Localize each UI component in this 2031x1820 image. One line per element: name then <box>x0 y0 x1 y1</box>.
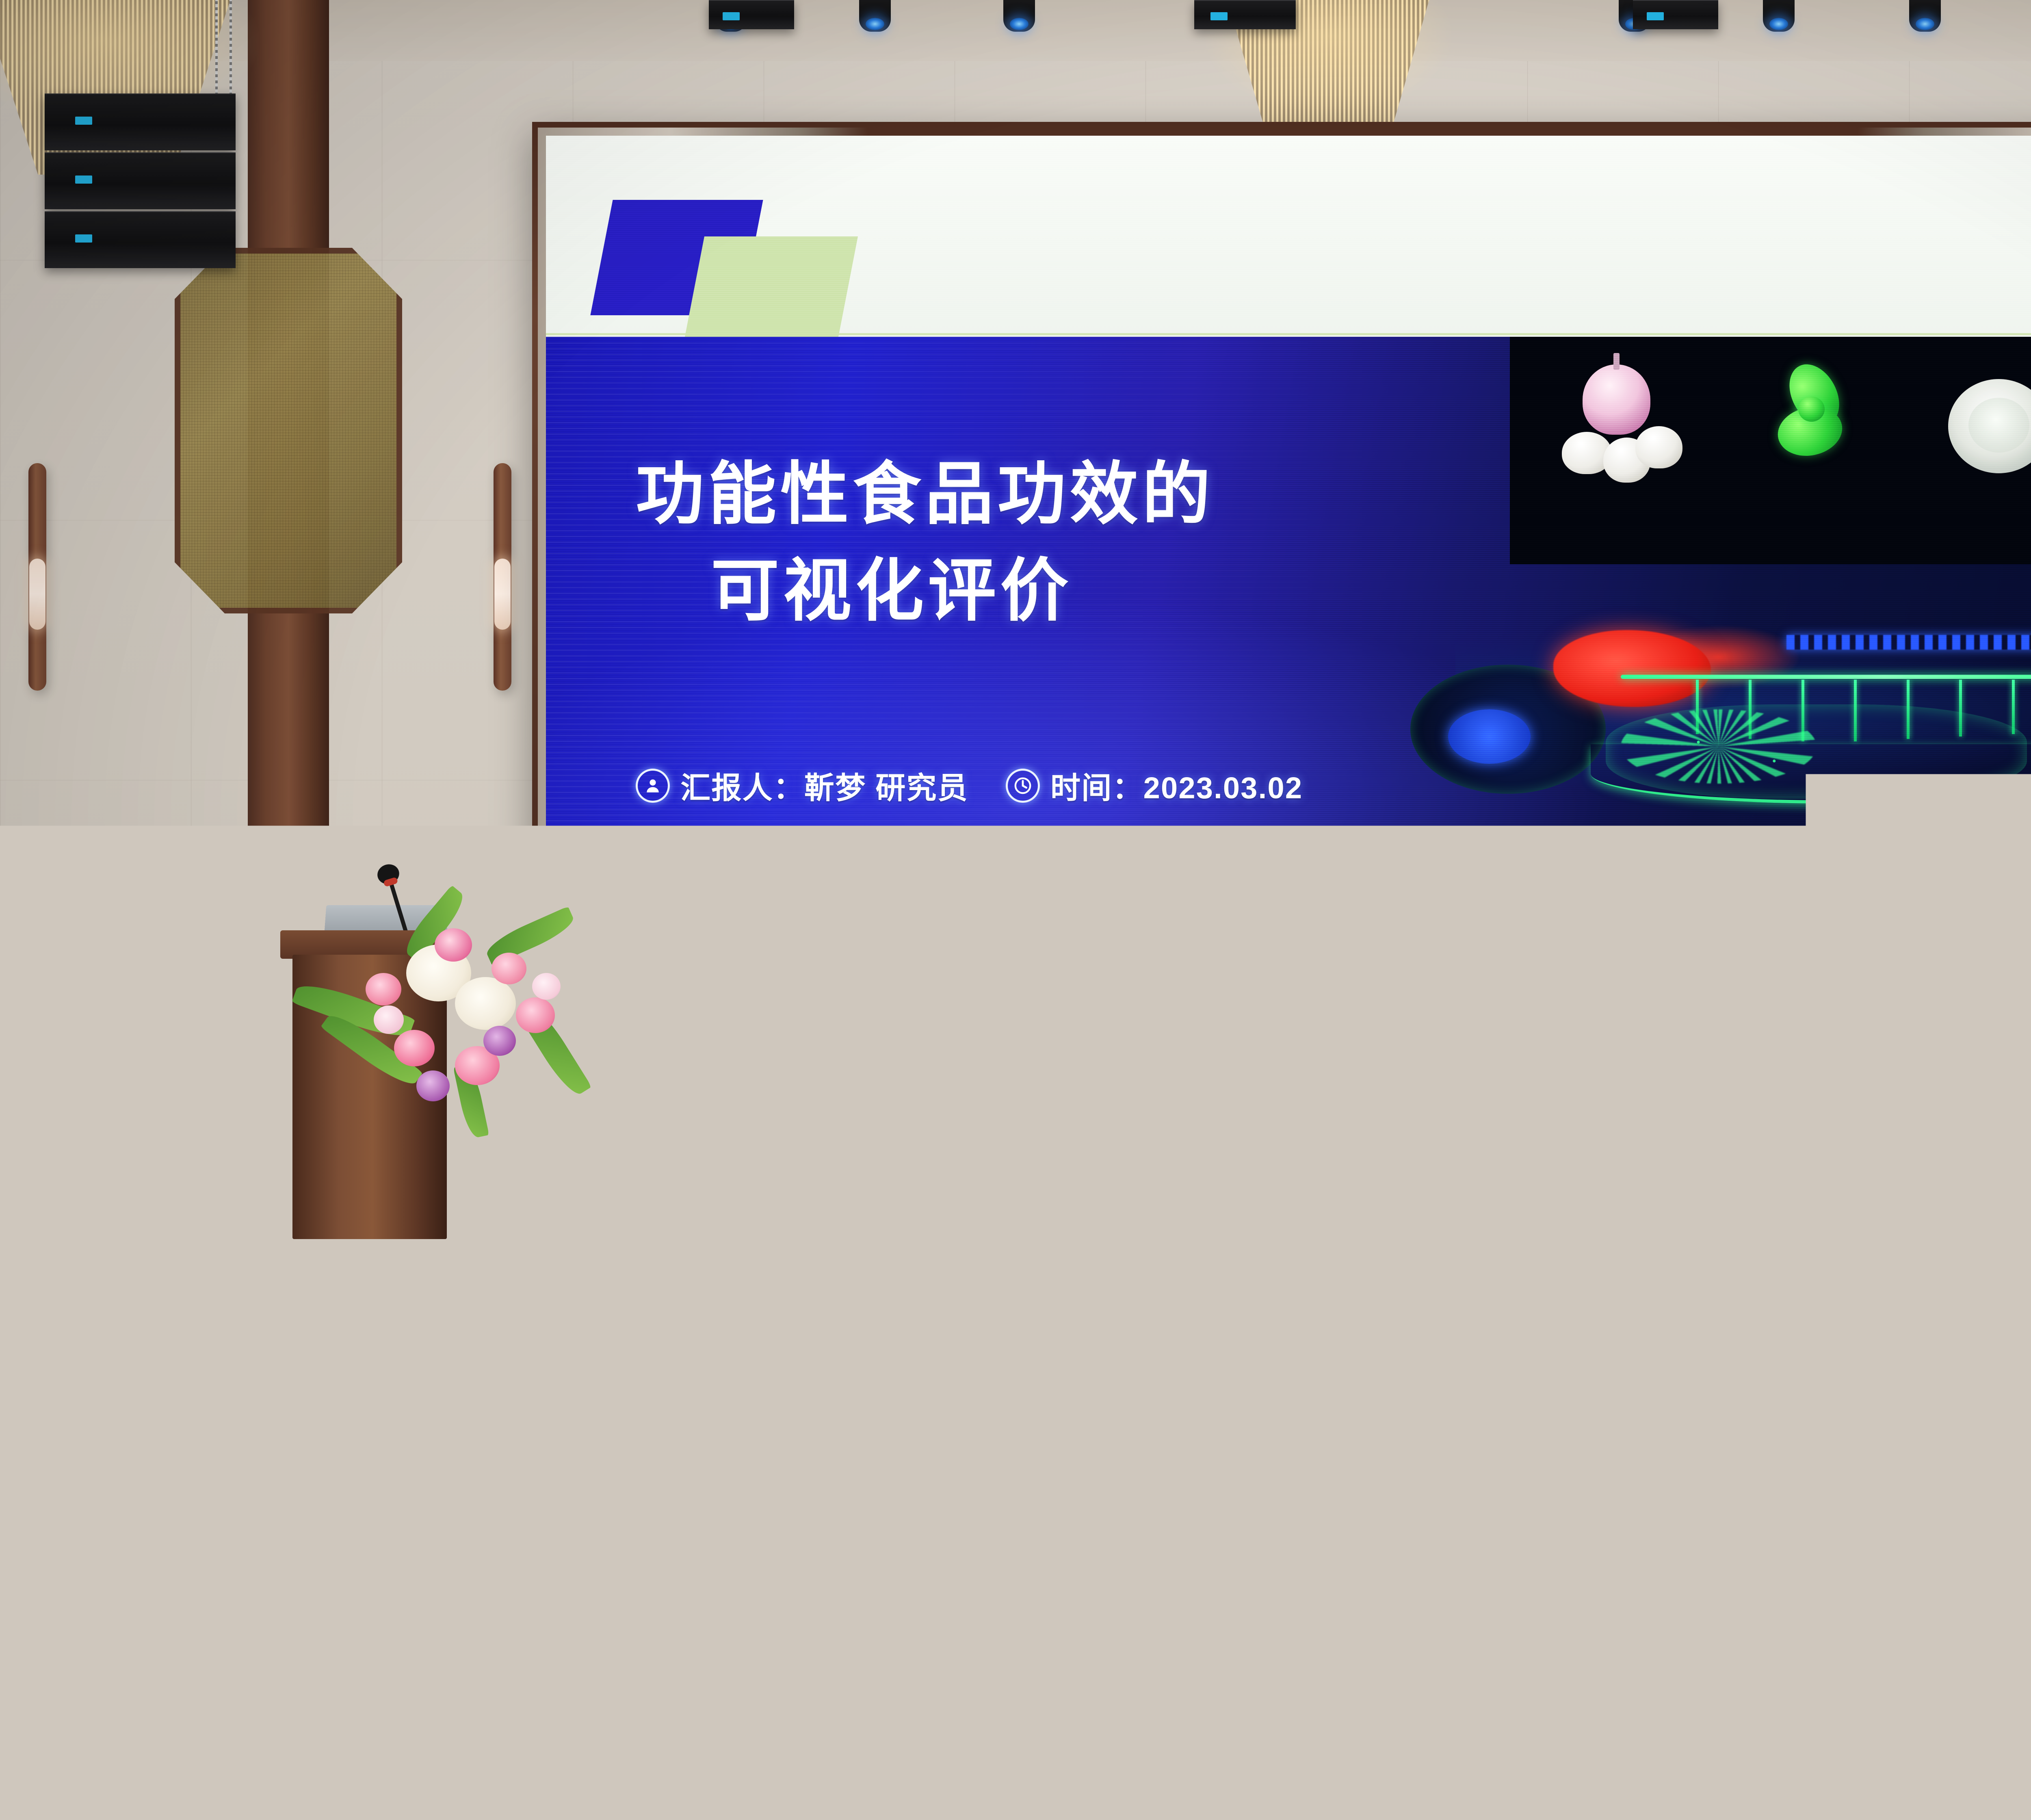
purple-orchid <box>416 1070 450 1101</box>
person-torso <box>1271 1735 1556 1820</box>
bottle-label <box>626 1749 657 1807</box>
person-torso <box>252 1722 536 1820</box>
bottle-label <box>621 1538 646 1582</box>
audience-member-foreground <box>1271 1597 1556 1820</box>
ceiling-spotlight-icon <box>1763 0 1795 32</box>
garlic-clove <box>1635 426 1682 468</box>
audience-member-foreground <box>252 1584 536 1820</box>
audience-seating-area: LET'S ROLL <box>0 1219 2031 1820</box>
floral-arrangement <box>313 916 597 1168</box>
bottle-cap <box>1385 1479 1402 1495</box>
pink-carnation <box>366 973 401 1005</box>
bottle-neck <box>1962 1705 1977 1729</box>
audience-member <box>41 1353 232 1690</box>
bottle-neck <box>1103 1501 1115 1520</box>
date-meta: 时间：2023.03.02 <box>1006 764 1303 807</box>
person-torso <box>1011 1219 1129 1239</box>
presenter-meta: 汇报人：靳梦 研究员 <box>636 764 968 807</box>
fish-notochord <box>1786 635 2031 650</box>
audience-member <box>630 1320 833 1690</box>
chair <box>1645 1702 1824 1820</box>
chair <box>49 1698 227 1820</box>
gold-mesh-panel <box>175 248 402 613</box>
chair <box>1097 1700 1275 1820</box>
ceiling-spotlight-icon <box>859 0 891 32</box>
purple-orchid <box>483 1026 516 1056</box>
top-green-parallelogram <box>682 236 858 353</box>
bottle-neck <box>1755 1261 1763 1275</box>
speaker-module <box>1633 0 1718 29</box>
audience-member-foreground <box>812 1617 1089 1820</box>
bottle-cap <box>1959 1686 1981 1707</box>
bottle-label <box>1779 1219 1793 1220</box>
fish-segment <box>2012 680 2015 734</box>
bottle-cap <box>630 1682 653 1703</box>
bottle-label <box>1381 1530 1405 1574</box>
bottle-label <box>1080 1757 1112 1816</box>
presenter-label: 汇报人：靳梦 研究员 <box>680 764 968 807</box>
bottle-label <box>1097 1538 1121 1582</box>
chair <box>1609 1219 1686 1296</box>
slide-title: 功能性食品功效的 可视化评价 <box>636 446 1215 639</box>
fish-dorsal-vessel <box>1621 675 2031 679</box>
bottle-neck <box>2017 1497 2029 1516</box>
speaker-module <box>45 93 236 150</box>
speaker-module <box>45 211 236 268</box>
backpack <box>1438 1255 1535 1324</box>
wall-sconce-light <box>28 463 46 691</box>
soybean-seed <box>1798 396 1825 422</box>
pink-carnation <box>516 997 555 1033</box>
bottle-body <box>1779 1219 1793 1233</box>
date-label: 时间：2023.03.02 <box>1050 764 1303 807</box>
speaker-module <box>45 152 236 209</box>
oyster-shell <box>1948 379 2031 473</box>
presentation-slide[interactable]: 功能性食品功效的 可视化评价 汇报人：靳梦 研究员 <box>546 136 2031 1051</box>
pink-carnation <box>492 953 526 984</box>
bottle-neck <box>1089 1709 1104 1733</box>
ceiling-speaker-small-center <box>1194 28 1296 69</box>
fish-pupil <box>1448 709 1531 764</box>
bottle-neck <box>634 1701 649 1725</box>
slide-main-panel: 功能性食品功效的 可视化评价 汇报人：靳梦 研究员 <box>546 337 2031 854</box>
speaker-module <box>1194 0 1296 29</box>
slide-title-line-1: 功能性食品功效的 <box>636 446 1215 543</box>
bottle-cap <box>1054 1251 1067 1263</box>
pink-rose <box>394 1030 435 1066</box>
ceiling-speaker-small-left <box>709 28 794 69</box>
audience-member-foreground <box>1860 1617 2031 1820</box>
bottle-cap <box>1100 1487 1117 1503</box>
zebrafish-larva-image <box>1395 590 2031 838</box>
person-torso <box>812 1751 1089 1820</box>
bottle-label <box>2011 1534 2031 1578</box>
small-bloom <box>374 1005 404 1034</box>
bottle-cap <box>2014 1483 2031 1499</box>
wall-sconce-light <box>494 463 511 691</box>
bottle-neck <box>1388 1493 1399 1512</box>
clock-icon <box>1006 769 1040 803</box>
bottle-neck <box>1057 1261 1065 1275</box>
fluorescence-collage <box>1510 337 2031 564</box>
bottle-cap <box>1085 1690 1108 1711</box>
slide-meta-row: 汇报人：靳梦 研究员 时间：2023.03.02 <box>636 764 1303 807</box>
dalmatian-graphic <box>1548 1475 1596 1536</box>
garlic-image <box>1550 364 1698 505</box>
bottle-neck <box>628 1501 639 1520</box>
ceiling-spotlight-icon <box>1909 0 1941 32</box>
garlic-bulb <box>1583 364 1650 435</box>
person-torso <box>630 1422 833 1690</box>
speaker-module <box>709 0 794 29</box>
soybean-pods-image <box>1751 360 1899 500</box>
pink-rose <box>435 928 472 962</box>
oyster-shell-image <box>1938 369 2031 496</box>
ceiling-spotlight-icon <box>1003 0 1035 32</box>
ceiling-speaker-small-right <box>1633 28 1718 69</box>
led-screen-frame: 功能性食品功效的 可视化评价 汇报人：靳梦 研究员 <box>532 122 2031 1064</box>
audience-member <box>1011 1219 1129 1239</box>
bottle-label <box>1954 1753 1986 1811</box>
bottle-cap <box>625 1487 642 1503</box>
fish-ventral-outline <box>1591 744 2031 804</box>
person-icon <box>636 769 670 803</box>
small-bloom <box>532 973 561 1000</box>
bottle-label <box>1751 1288 1768 1319</box>
person-torso <box>41 1446 232 1690</box>
bottom-blue-parallelogram <box>1722 964 1863 1051</box>
presenter-face <box>285 856 327 910</box>
person-torso <box>1860 1751 2031 1820</box>
slide-title-line-2: 可视化评价 <box>636 542 1215 639</box>
white-lily <box>455 977 516 1030</box>
line-array-speaker-left <box>45 28 236 272</box>
conference-hall-scene: 功能性食品功效的 可视化评价 汇报人：靳梦 研究员 <box>0 0 2031 1820</box>
bottle-cap <box>1753 1251 1765 1263</box>
